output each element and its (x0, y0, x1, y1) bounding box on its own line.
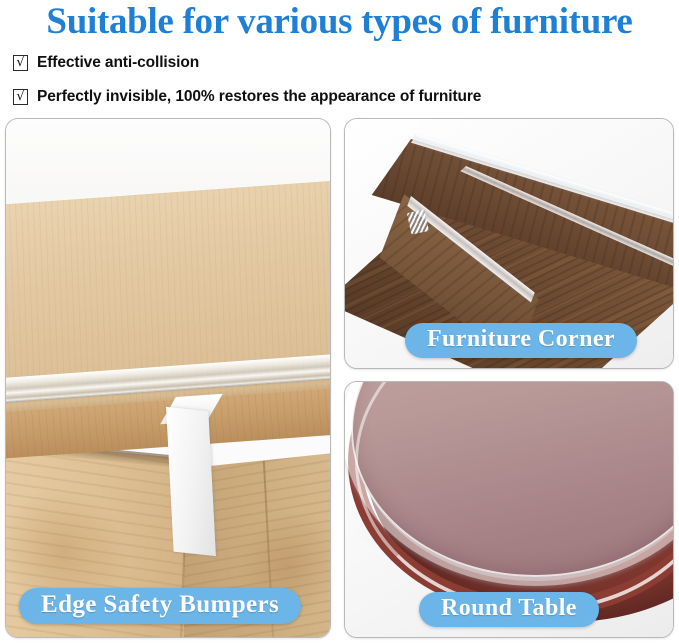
feature-item: √ Effective anti-collision (13, 50, 663, 75)
photo-panel-edge-bumpers: Edge Safety Bumpers (5, 118, 331, 638)
feature-label: Perfectly invisible, 100% restores the a… (37, 88, 481, 106)
panel-caption-furniture-corner: Furniture Corner (405, 323, 637, 358)
feature-item: √ Perfectly invisible, 100% restores the… (13, 84, 663, 109)
panel-caption-round-table: Round Table (419, 592, 599, 627)
feature-list: √ Effective anti-collision √ Perfectly i… (13, 50, 663, 118)
bumper-corner-cap (166, 407, 216, 556)
edge-bumper-photo (6, 119, 330, 637)
infographic-page: Suitable for various types of furniture … (0, 0, 679, 643)
checkmark-icon: √ (13, 55, 28, 71)
page-title: Suitable for various types of furniture (0, 0, 679, 44)
photo-panel-furniture-corner: Furniture Corner (344, 118, 674, 369)
panel-caption-edge-bumpers: Edge Safety Bumpers (19, 588, 301, 624)
feature-label: Effective anti-collision (37, 54, 199, 72)
checkmark-icon: √ (13, 89, 28, 105)
photo-panel-round-table: Round Table (344, 381, 674, 638)
